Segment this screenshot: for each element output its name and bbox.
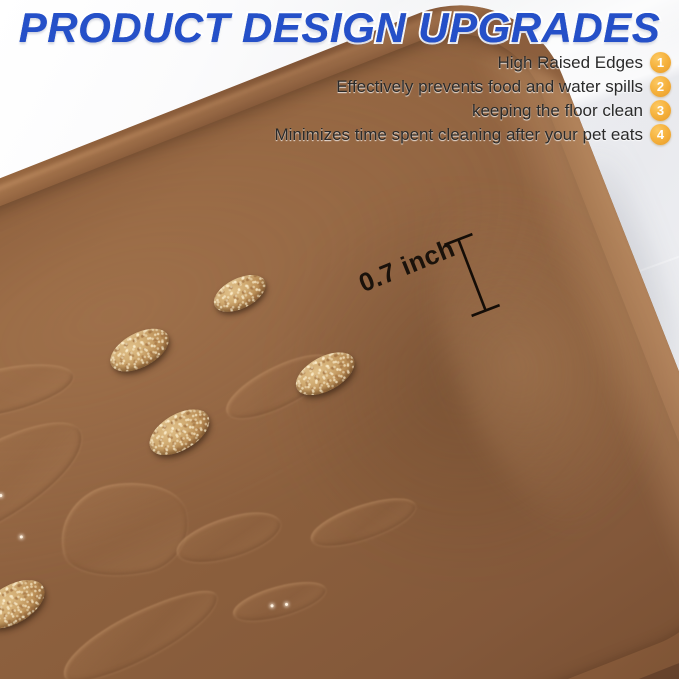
feature-item-2: Effectively prevents food and water spil… <box>336 76 671 97</box>
feature-label: High Raised Edges <box>497 53 643 73</box>
page-title: PRODUCT DESIGN UPGRADES <box>0 4 679 52</box>
product-image: 0.7 inch PRODUCT DESIGN UPGRADES PRODUCT… <box>0 0 679 679</box>
feature-list: High Raised Edges 1 Effectively prevents… <box>274 52 671 145</box>
feature-label: Minimizes time spent cleaning after your… <box>274 125 643 145</box>
feature-item-4: Minimizes time spent cleaning after your… <box>274 124 671 145</box>
feature-item-3: keeping the floor clean 3 <box>472 100 671 121</box>
feature-number-badge: 4 <box>650 124 671 145</box>
water-puddle <box>229 574 330 629</box>
feature-item-1: High Raised Edges 1 <box>497 52 671 73</box>
feature-number-badge: 1 <box>650 52 671 73</box>
feature-label: Effectively prevents food and water spil… <box>336 77 643 97</box>
feature-label: keeping the floor clean <box>472 101 643 121</box>
feature-number-badge: 2 <box>650 76 671 97</box>
feature-number-badge: 3 <box>650 100 671 121</box>
